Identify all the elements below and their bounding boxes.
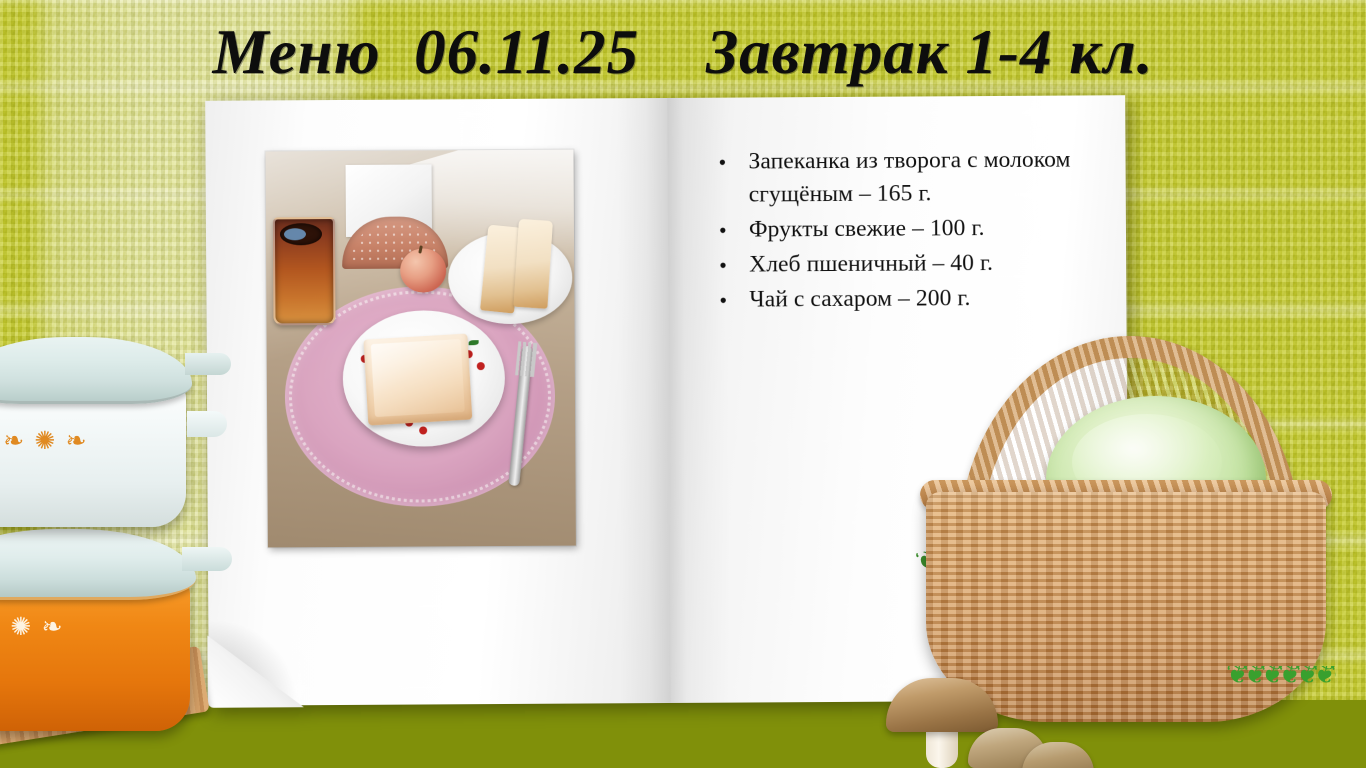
list-item: • Фрукты свежие – 100 г. (711, 211, 1126, 247)
photo-plate-cherry (477, 362, 485, 370)
photo-tea-glass (273, 217, 336, 325)
menu-item-label: Запеканка из творога с молоком сгущёным … (748, 143, 1125, 211)
bullet-icon: • (711, 283, 749, 316)
photo-apple (400, 248, 446, 292)
casserole-stack: ✺ ❧ ✺ ❧ ✺ ❧ ✺ ❧ (0, 325, 234, 725)
white-pyrex-casserole: ✺ ❧ ✺ ❧ (0, 325, 201, 533)
casserole-handle (182, 547, 232, 571)
menu-item-label: Хлеб пшеничный – 40 г. (749, 247, 993, 281)
mushroom (1022, 742, 1094, 768)
page-title: Меню 06.11.25 Завтрак 1-4 кл. (0, 16, 1366, 89)
photo-plate-cherry (419, 426, 427, 434)
photo-bread-slice (513, 219, 553, 309)
list-item: • Запеканка из творога с молоком сгущёны… (710, 143, 1125, 212)
mushroom-cap (1022, 742, 1094, 768)
casserole-glass-lid (0, 337, 192, 404)
breakfast-photo (265, 150, 575, 548)
bullet-icon: • (710, 145, 748, 178)
orange-pyrex-casserole: ✺ ❧ ✺ ❧ (0, 507, 204, 725)
mushroom-cap (886, 678, 998, 732)
casserole-body (0, 581, 190, 731)
menu-item-label: Чай с сахаром – 200 г. (749, 282, 970, 316)
bullet-icon: • (711, 213, 749, 246)
list-item: • Хлеб пшеничный – 40 г. (711, 246, 1126, 282)
list-item: • Чай с сахаром – 200 г. (711, 281, 1126, 317)
photo-cottage-cheese-casserole (363, 334, 472, 426)
floral-pattern-band: ✺ ❧ ✺ ❧ (0, 607, 204, 647)
slide-canvas: Меню 06.11.25 Завтрак 1-4 кл. (0, 0, 1366, 768)
floral-pattern-band: ✺ ❧ ✺ ❧ (0, 421, 201, 461)
casserole-glass-lid (0, 529, 196, 600)
vegetable-basket: ❦❦❦❦❦❦❦❦❦❦❦❦❦❦❦❦ ❦❦❦❦❦❦❦❦❦❦❦❦ (906, 330, 1366, 768)
menu-list: • Запеканка из творога с молоком сгущёны… (710, 143, 1126, 319)
menu-item-label: Фрукты свежие – 100 г. (749, 212, 985, 246)
parsley-herb: ❦❦❦❦❦❦❦❦❦❦❦❦ (1226, 666, 1336, 740)
casserole-handle (185, 353, 231, 375)
bullet-icon: • (711, 248, 749, 281)
casserole-handle (187, 411, 227, 437)
photo-plate-leaf (469, 340, 479, 345)
